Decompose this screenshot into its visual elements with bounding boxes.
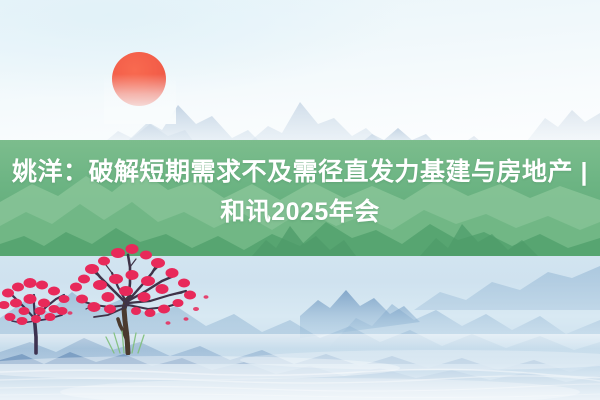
title-line-1: 姚洋：破解短期需求不及需径直发力基建与房地产 | [12,152,588,192]
small-blossom-tree [0,278,70,353]
large-blossom-tree [68,244,209,353]
blossom-trees-icon [0,225,600,355]
news-banner-image: 姚洋：破解短期需求不及需径直发力基建与房地产 | 和讯2025年会 [0,0,600,400]
distant-mountains-icon [0,0,600,150]
sun-horizon-fade [104,74,176,124]
